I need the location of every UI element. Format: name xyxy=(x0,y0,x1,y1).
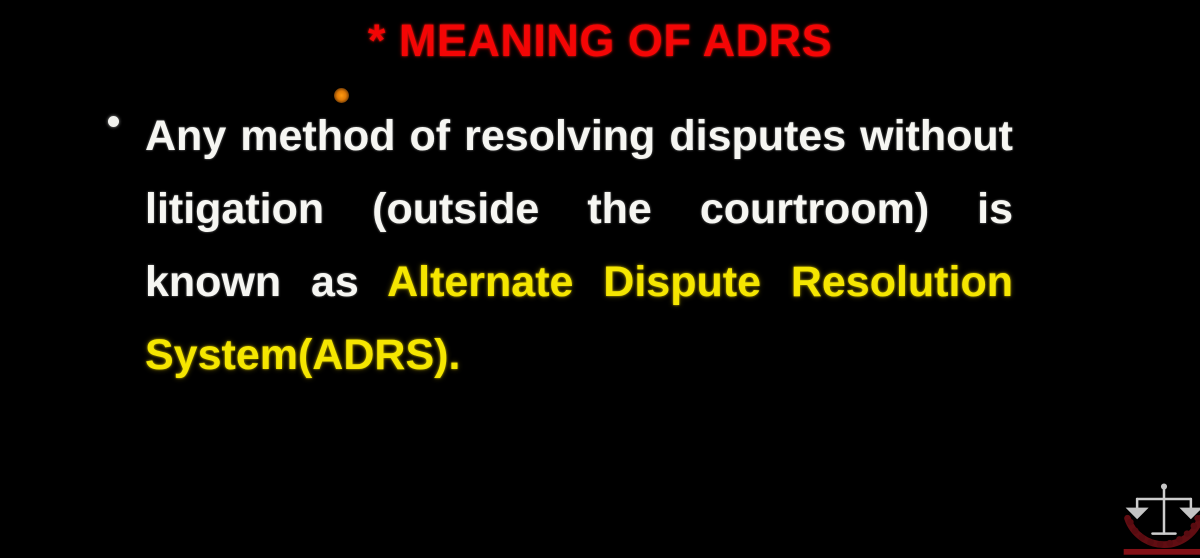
slide-title: * MEANING OF ADRS xyxy=(0,16,1200,66)
slide-body: Any method of resolving disputes without… xyxy=(103,100,1013,392)
slide-title-text: * MEANING OF ADRS xyxy=(368,16,832,66)
bullet-marker-icon xyxy=(108,116,119,127)
slide-canvas: * MEANING OF ADRS Any method of resolvin… xyxy=(0,0,1200,558)
justice-scales-logo xyxy=(1116,476,1200,558)
justice-scales-icon xyxy=(1116,476,1200,558)
bullet-paragraph: Any method of resolving disputes without… xyxy=(103,100,1013,392)
